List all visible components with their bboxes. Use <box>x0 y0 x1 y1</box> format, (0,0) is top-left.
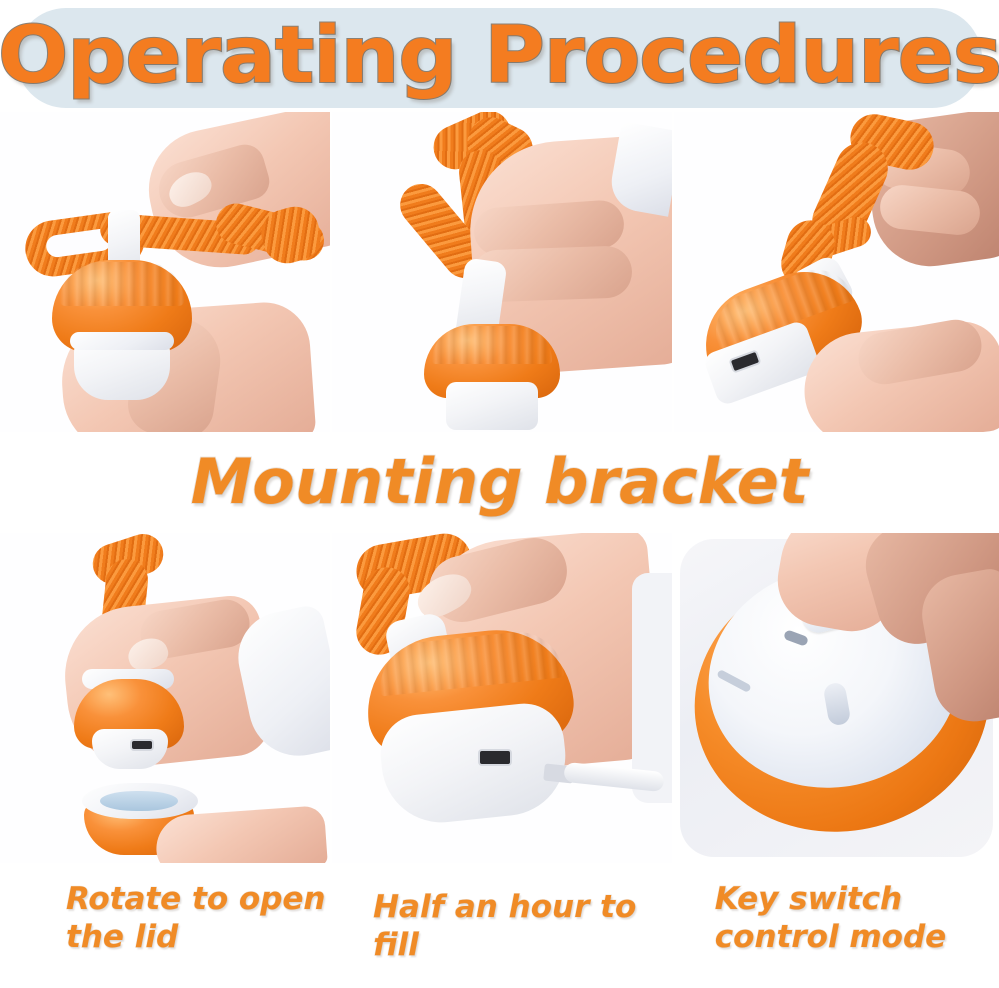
step-image-5 <box>332 533 672 863</box>
step-image-1 <box>0 112 330 432</box>
caption-step-6: Key switch control mode <box>667 866 999 988</box>
step-image-4 <box>0 533 330 863</box>
usb-port-icon <box>132 741 152 749</box>
page-title: Operating Procedures <box>0 0 999 112</box>
step-image-3 <box>674 112 999 432</box>
lid-inner <box>100 791 178 811</box>
caption-row: Rotate to open the lid Half an hour to f… <box>0 866 999 988</box>
caption-step-4: Rotate to open the lid <box>0 866 351 988</box>
caption-step-5: Half an hour to fill <box>351 866 667 988</box>
device-body-white <box>446 382 538 430</box>
device-base-white <box>92 729 168 769</box>
infographic-page: Operating Procedures <box>0 0 999 988</box>
step-image-6 <box>674 533 999 863</box>
dome-ribs <box>60 262 184 306</box>
usb-port-icon <box>480 751 510 764</box>
device-collar <box>70 332 174 350</box>
dome-ribs <box>432 326 552 364</box>
mounting-bracket-heading: Mounting bracket <box>0 432 999 532</box>
step-image-2 <box>332 112 672 432</box>
steps-row-top <box>0 112 999 432</box>
steps-row-bottom <box>0 533 999 863</box>
